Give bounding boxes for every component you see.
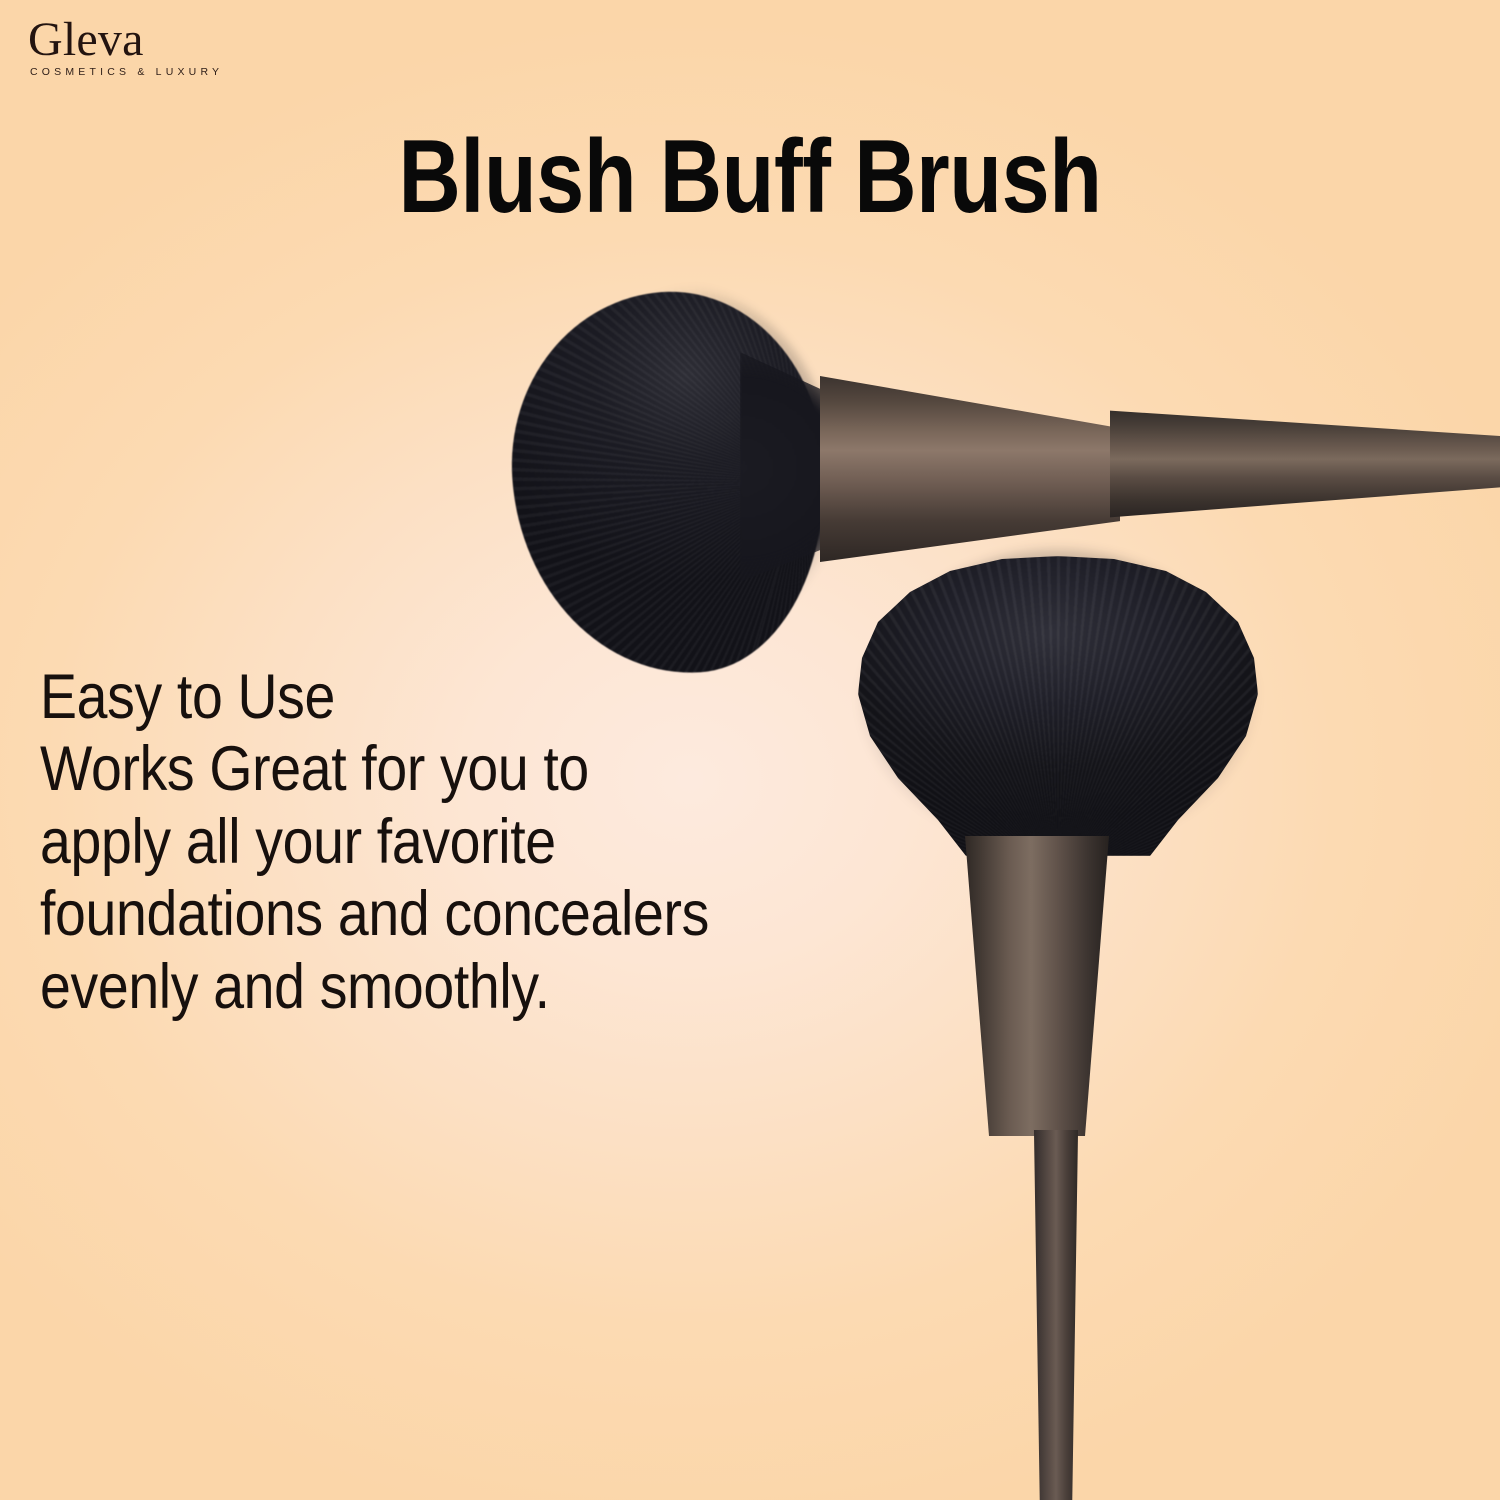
product-promo-canvas: Gleva COSMETICS & LUXURY Blush Buff Brus… [0,0,1500,1500]
brush-head-icon [858,556,1258,856]
brand-name: Gleva [28,16,268,63]
brush-bristle-halo [491,273,848,695]
brand-logo: Gleva COSMETICS & LUXURY [28,16,268,78]
brush-neck [740,352,890,582]
brush-handle [1110,406,1500,522]
brush-bristle-halo [848,548,1268,866]
page-title: Blush Buff Brush [128,124,1373,230]
brush-ferrule [820,376,1120,562]
brand-tagline: COSMETICS & LUXURY [30,66,268,78]
brush-handle [1027,1130,1085,1500]
brush-ferrule [962,836,1112,1136]
product-description: Easy to Use Works Great for you to apply… [40,661,814,1023]
brush-head-icon [500,282,838,685]
